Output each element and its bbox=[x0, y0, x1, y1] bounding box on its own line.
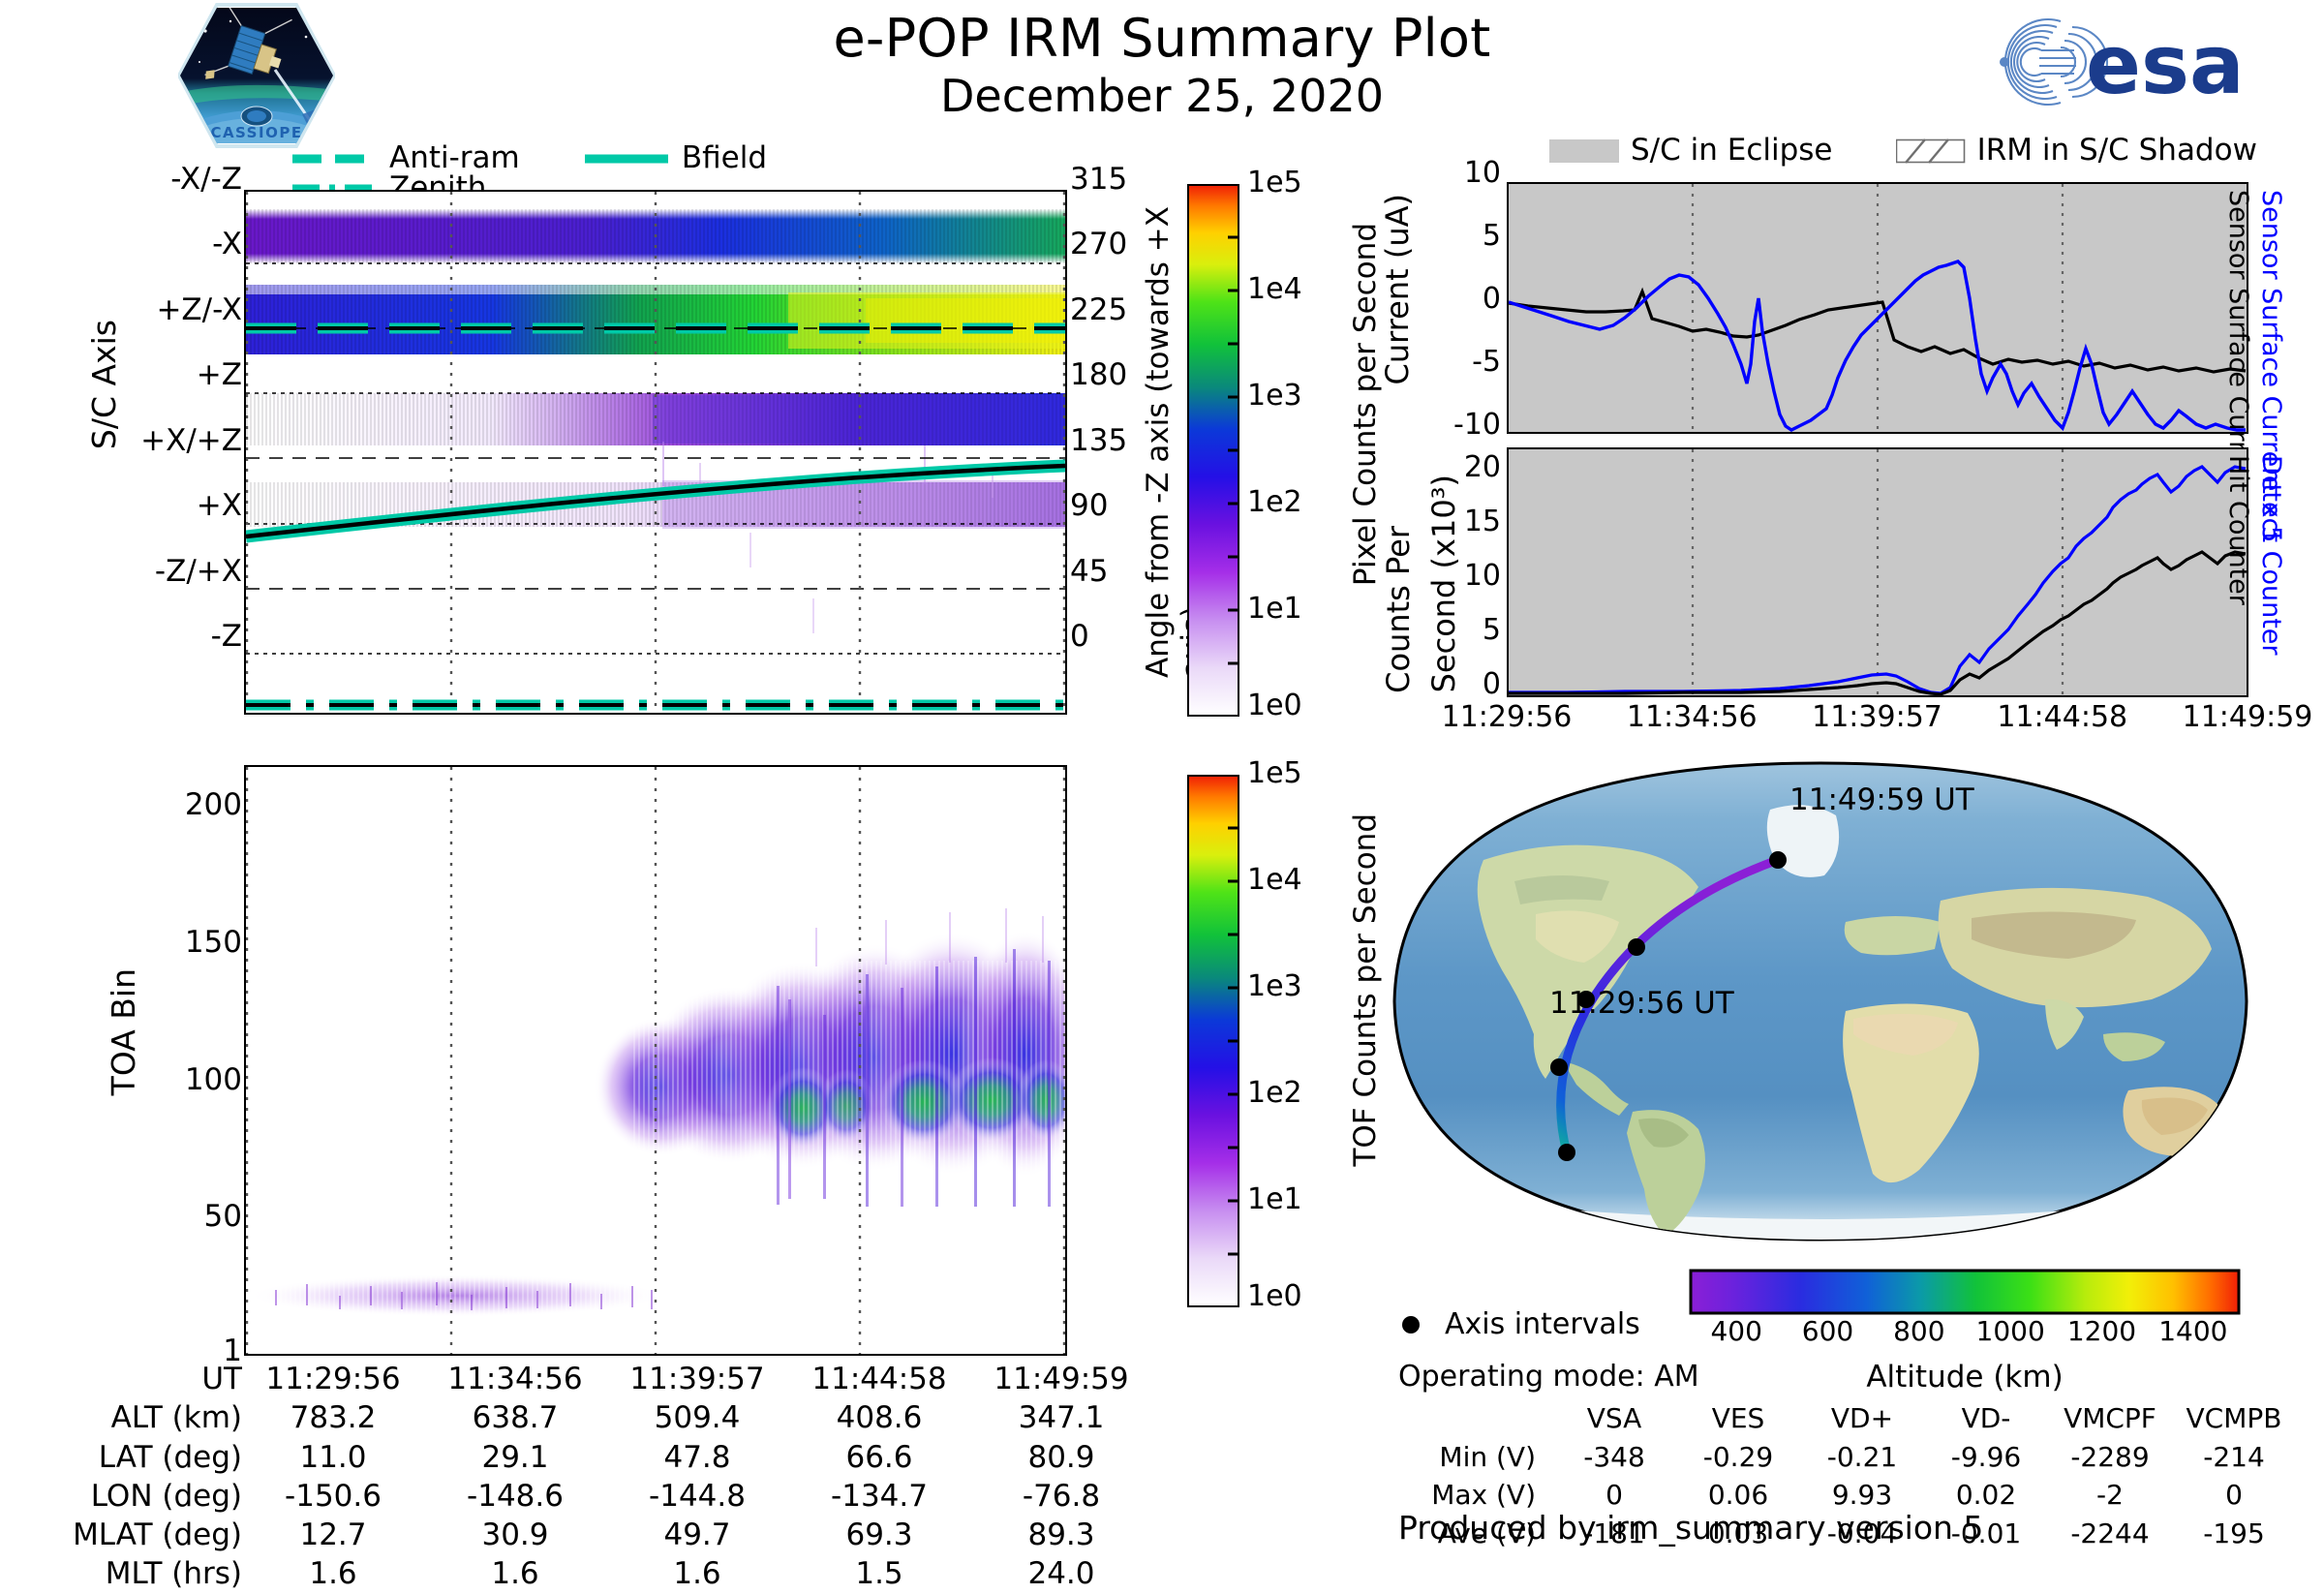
voltage-cell-0-1: -0.29 bbox=[1677, 1439, 1799, 1476]
counts-xtick-2: 11:39:57 bbox=[1771, 703, 1984, 732]
angle-cbar-tick-5: 1e0 bbox=[1247, 691, 1302, 720]
current-ytick-1: 5 bbox=[1483, 222, 1501, 251]
angle-cbar-tick-1: 1e4 bbox=[1247, 275, 1302, 304]
voltage-cell-0-2: -0.21 bbox=[1801, 1439, 1923, 1476]
angle-ytick-left-5: +X bbox=[197, 491, 242, 521]
ephemeris-cell-2-2: 47.8 bbox=[606, 1438, 788, 1477]
counts-xtick-4: 11:49:59 bbox=[2141, 703, 2324, 732]
map-end-time-label: 11:49:59 UT bbox=[1789, 782, 1974, 817]
voltage-header-blank bbox=[1400, 1400, 1551, 1437]
angle-ytick-right-2: 225 bbox=[1070, 295, 1127, 325]
spectrogram-legend: Anti-ram Bfield Zenith bbox=[290, 143, 1026, 182]
toa-ytick-2: 100 bbox=[185, 1065, 242, 1095]
voltage-cell-2-5: -195 bbox=[2173, 1516, 2295, 1552]
ephemeris-cell-0-3: 11:44:58 bbox=[788, 1360, 970, 1398]
angle-ytick-left-0: -X/-Z bbox=[170, 165, 242, 195]
voltage-row: Min (V)-348-0.29-0.21-9.96-2289-214 bbox=[1400, 1439, 2295, 1476]
eclipse-legend: S/C in Eclipse IRM in S/C Shadow bbox=[1549, 136, 2315, 174]
voltage-col-header-3: VD- bbox=[1925, 1400, 2047, 1437]
angle-cbar-tick-3: 1e2 bbox=[1247, 488, 1302, 517]
svg-text:esa: esa bbox=[2086, 17, 2245, 112]
ephemeris-cell-1-1: 638.7 bbox=[424, 1398, 606, 1437]
counts-right-label-black: Hit Counter bbox=[2223, 455, 2253, 605]
angle-ytick-right-6: 45 bbox=[1070, 557, 1108, 587]
ephemeris-row-label-3: LON (deg) bbox=[39, 1477, 242, 1516]
legend-label-sc-eclipse: S/C in Eclipse bbox=[1631, 136, 1833, 166]
operating-mode-label: Operating mode: AM bbox=[1398, 1360, 1699, 1394]
ground-track-map[interactable] bbox=[1391, 759, 2250, 1243]
altitude-cbar-tick-5: 1400 bbox=[2135, 1315, 2251, 1347]
toa-cbar-tick-3: 1e2 bbox=[1247, 1079, 1302, 1108]
esa-logo-icon: esa bbox=[1960, 4, 2270, 120]
ephemeris-cell-3-3: -134.7 bbox=[788, 1477, 970, 1516]
voltage-row: Max (V)00.069.930.02-20 bbox=[1400, 1477, 2295, 1514]
toa-ytick-3: 50 bbox=[204, 1202, 242, 1232]
voltage-cell-1-2: 9.93 bbox=[1801, 1477, 1923, 1514]
toa-cbar-tick-4: 1e1 bbox=[1247, 1185, 1302, 1214]
current-panel-ylabel: Current (uA) bbox=[1379, 194, 1416, 385]
ephemeris-cell-3-1: -148.6 bbox=[424, 1477, 606, 1516]
legend-label-irm-shadow: IRM in S/C Shadow bbox=[1977, 136, 2257, 166]
axis-intervals-legend: Axis intervals bbox=[1398, 1307, 1640, 1341]
altitude-colorbar-tick-labels: 400600800100012001400 bbox=[1689, 1315, 2241, 1354]
angle-panel-ylabel: S/C Axis bbox=[85, 320, 123, 449]
toa-ytick-1: 150 bbox=[185, 928, 242, 958]
ephemeris-cell-4-1: 30.9 bbox=[424, 1516, 606, 1554]
counts-panel-ylabel: Counts Per Second (x10³) bbox=[1346, 475, 1462, 700]
counts-xtick-0: 11:29:56 bbox=[1400, 703, 1613, 732]
angle-ytick-right-4: 135 bbox=[1070, 426, 1127, 456]
angle-ytick-right-1: 270 bbox=[1070, 230, 1127, 260]
counts-plot-panel[interactable] bbox=[1507, 447, 2248, 697]
gray-swatch-icon bbox=[1549, 138, 1619, 165]
voltage-header-row: VSAVESVD+VD-VMCPFVCMPB bbox=[1400, 1400, 2295, 1437]
angle-ytick-left-3: +Z bbox=[197, 360, 242, 390]
toa-spectrogram-panel[interactable] bbox=[244, 765, 1067, 1356]
ephemeris-cell-2-1: 29.1 bbox=[424, 1438, 606, 1477]
angle-ytick-right-0: 315 bbox=[1070, 165, 1127, 195]
ephemeris-cell-1-3: 408.6 bbox=[788, 1398, 970, 1437]
toa-colorbar-label: TOF Counts per Second bbox=[1348, 813, 1383, 1167]
voltage-cell-1-0: 0 bbox=[1553, 1477, 1675, 1514]
voltage-row-label-0: Min (V) bbox=[1400, 1439, 1551, 1476]
angle-panel-colorbar bbox=[1187, 184, 1239, 717]
counts-xtick-3: 11:44:58 bbox=[1956, 703, 2169, 732]
ephemeris-row-label-2: LAT (deg) bbox=[39, 1438, 242, 1477]
ephemeris-cell-2-3: 66.6 bbox=[788, 1438, 970, 1477]
legend-item-bfield: Bfield bbox=[583, 143, 767, 173]
counts-right-label-blue: Detect Counter bbox=[2256, 455, 2286, 656]
altitude-colorbar-label: Altitude (km) bbox=[1689, 1360, 2241, 1395]
voltage-row-label-1: Max (V) bbox=[1400, 1477, 1551, 1514]
current-ytick-4: -10 bbox=[1453, 411, 1501, 440]
ephemeris-cell-3-0: -150.6 bbox=[242, 1477, 424, 1516]
counts-panel-xtick-labels: 11:29:5611:34:5611:39:5711:44:5811:49:59 bbox=[1507, 703, 2248, 742]
svg-text:CASSIOPE: CASSIOPE bbox=[210, 124, 302, 141]
toa-cbar-tick-2: 1e3 bbox=[1247, 972, 1302, 1001]
legend-label-bfield: Bfield bbox=[682, 143, 767, 173]
counts-ylabel-line2: Second (x10³) bbox=[1425, 475, 1462, 692]
voltage-col-header-0: VSA bbox=[1553, 1400, 1675, 1437]
ephemeris-row-label-1: ALT (km) bbox=[39, 1398, 242, 1437]
ephemeris-row: LON (deg)-150.6-148.6-144.8-134.7-76.8 bbox=[39, 1477, 1152, 1516]
ephemeris-row-label-4: MLAT (deg) bbox=[39, 1516, 242, 1554]
solid-line-icon bbox=[583, 151, 670, 167]
ephemeris-cell-4-0: 12.7 bbox=[242, 1516, 424, 1554]
angle-cbar-tick-0: 1e5 bbox=[1247, 169, 1302, 198]
voltage-cell-1-4: -2 bbox=[2049, 1477, 2171, 1514]
ephemeris-cell-2-0: 11.0 bbox=[242, 1438, 424, 1477]
angle-cbar-tick-4: 1e1 bbox=[1247, 595, 1302, 624]
counts-ylabel-line1: Counts Per bbox=[1380, 526, 1417, 693]
legend-item-anti-ram: Anti-ram bbox=[290, 143, 520, 173]
voltage-cell-2-4: -2244 bbox=[2049, 1516, 2171, 1552]
axis-intervals-label: Axis intervals bbox=[1445, 1307, 1640, 1341]
voltage-cell-0-4: -2289 bbox=[2049, 1439, 2171, 1476]
voltage-col-header-1: VES bbox=[1677, 1400, 1799, 1437]
angle-ytick-right-7: 0 bbox=[1070, 622, 1089, 652]
ephemeris-cell-1-4: 347.1 bbox=[970, 1398, 1152, 1437]
ephemeris-cell-5-4: 24.0 bbox=[970, 1554, 1152, 1593]
ephemeris-cell-0-2: 11:39:57 bbox=[606, 1360, 788, 1398]
angle-ytick-left-2: +Z/-X bbox=[156, 295, 242, 325]
counts-ytick-4: 0 bbox=[1483, 670, 1501, 699]
toa-ytick-0: 200 bbox=[185, 790, 242, 820]
ephemeris-cell-0-1: 11:34:56 bbox=[424, 1360, 606, 1398]
current-plot-panel[interactable] bbox=[1507, 182, 2248, 434]
ephemeris-row: ALT (km)783.2638.7509.4408.6347.1 bbox=[39, 1398, 1152, 1437]
ephemeris-row-label-0: UT bbox=[39, 1360, 242, 1398]
voltage-cell-0-0: -348 bbox=[1553, 1439, 1675, 1476]
ephemeris-row: MLT (hrs)1.61.61.61.524.0 bbox=[39, 1554, 1152, 1593]
hatched-swatch-icon bbox=[1896, 138, 1966, 165]
ephemeris-cell-4-4: 89.3 bbox=[970, 1516, 1152, 1554]
angle-ytick-left-1: -X bbox=[212, 230, 242, 260]
angle-spectrogram-panel[interactable] bbox=[244, 190, 1067, 715]
toa-cbar-tick-5: 1e0 bbox=[1247, 1282, 1302, 1311]
current-ytick-0: 10 bbox=[1464, 159, 1501, 188]
produced-by-label: Produced by irm_summary version 5 bbox=[1398, 1509, 1983, 1547]
ephemeris-cell-5-2: 1.6 bbox=[606, 1554, 788, 1593]
angle-ytick-right-3: 180 bbox=[1070, 360, 1127, 390]
map-start-time-label: 11:29:56 UT bbox=[1549, 986, 1734, 1021]
ephemeris-cell-4-3: 69.3 bbox=[788, 1516, 970, 1554]
toa-colorbar-tick-labels: 1e51e41e31e21e11e0 bbox=[1247, 775, 1363, 1307]
voltage-cell-1-5: 0 bbox=[2173, 1477, 2295, 1514]
legend-item-irm-shadow: IRM in S/C Shadow bbox=[1896, 136, 2257, 166]
ephemeris-cell-5-3: 1.5 bbox=[788, 1554, 970, 1593]
voltage-cell-0-3: -9.96 bbox=[1925, 1439, 2047, 1476]
toa-cbar-tick-0: 1e5 bbox=[1247, 759, 1302, 788]
counts-xtick-1: 11:34:56 bbox=[1585, 703, 1798, 732]
ephemeris-cell-0-0: 11:29:56 bbox=[242, 1360, 424, 1398]
counts-ytick-1: 15 bbox=[1464, 507, 1501, 536]
ephemeris-cell-1-0: 783.2 bbox=[242, 1398, 424, 1437]
voltage-col-header-4: VMCPF bbox=[2049, 1400, 2171, 1437]
ephemeris-cell-5-0: 1.6 bbox=[242, 1554, 424, 1593]
ephemeris-cell-0-4: 11:49:59 bbox=[970, 1360, 1152, 1398]
legend-label-anti-ram: Anti-ram bbox=[389, 143, 520, 173]
toa-panel-colorbar bbox=[1187, 775, 1239, 1307]
counts-ytick-3: 5 bbox=[1483, 616, 1501, 645]
angle-ytick-left-4: +X/+Z bbox=[140, 426, 242, 456]
ephemeris-cell-1-2: 509.4 bbox=[606, 1398, 788, 1437]
black-dot-icon bbox=[1398, 1312, 1423, 1337]
ephemeris-cell-3-2: -144.8 bbox=[606, 1477, 788, 1516]
ephemeris-table: UT11:29:5611:34:5611:39:5711:44:5811:49:… bbox=[39, 1360, 1152, 1594]
ephemeris-cell-2-4: 80.9 bbox=[970, 1438, 1152, 1477]
cassiope-mission-patch-icon: CASSIOPE bbox=[178, 2, 335, 149]
voltage-cell-0-5: -214 bbox=[2173, 1439, 2295, 1476]
voltage-cell-1-1: 0.06 bbox=[1677, 1477, 1799, 1514]
ephemeris-cell-5-1: 1.6 bbox=[424, 1554, 606, 1593]
current-ytick-2: 0 bbox=[1483, 285, 1501, 314]
ephemeris-row: UT11:29:5611:34:5611:39:5711:44:5811:49:… bbox=[39, 1360, 1152, 1398]
ephemeris-cell-3-4: -76.8 bbox=[970, 1477, 1152, 1516]
dashed-line-icon bbox=[290, 151, 378, 167]
voltage-cell-1-3: 0.02 bbox=[1925, 1477, 2047, 1514]
current-ytick-3: -5 bbox=[1472, 348, 1501, 377]
counts-ytick-0: 20 bbox=[1464, 453, 1501, 482]
counts-ytick-2: 10 bbox=[1464, 562, 1501, 591]
ephemeris-row: LAT (deg)11.029.147.866.680.9 bbox=[39, 1438, 1152, 1477]
voltage-col-header-5: VCMPB bbox=[2173, 1400, 2295, 1437]
ephemeris-row: MLAT (deg)12.730.949.769.389.3 bbox=[39, 1516, 1152, 1554]
angle-cbar-tick-2: 1e3 bbox=[1247, 382, 1302, 411]
toa-cbar-tick-1: 1e4 bbox=[1247, 866, 1302, 895]
angle-ytick-left-7: -Z bbox=[211, 622, 242, 652]
legend-item-sc-eclipse: S/C in Eclipse bbox=[1549, 136, 1833, 166]
angle-ytick-left-6: -Z/+X bbox=[155, 557, 242, 587]
voltage-col-header-2: VD+ bbox=[1801, 1400, 1923, 1437]
altitude-colorbar bbox=[1689, 1269, 2241, 1315]
ephemeris-row-label-5: MLT (hrs) bbox=[39, 1554, 242, 1593]
toa-panel-ylabel: TOA Bin bbox=[105, 968, 142, 1095]
ephemeris-cell-4-2: 49.7 bbox=[606, 1516, 788, 1554]
angle-ytick-right-5: 90 bbox=[1070, 491, 1108, 521]
